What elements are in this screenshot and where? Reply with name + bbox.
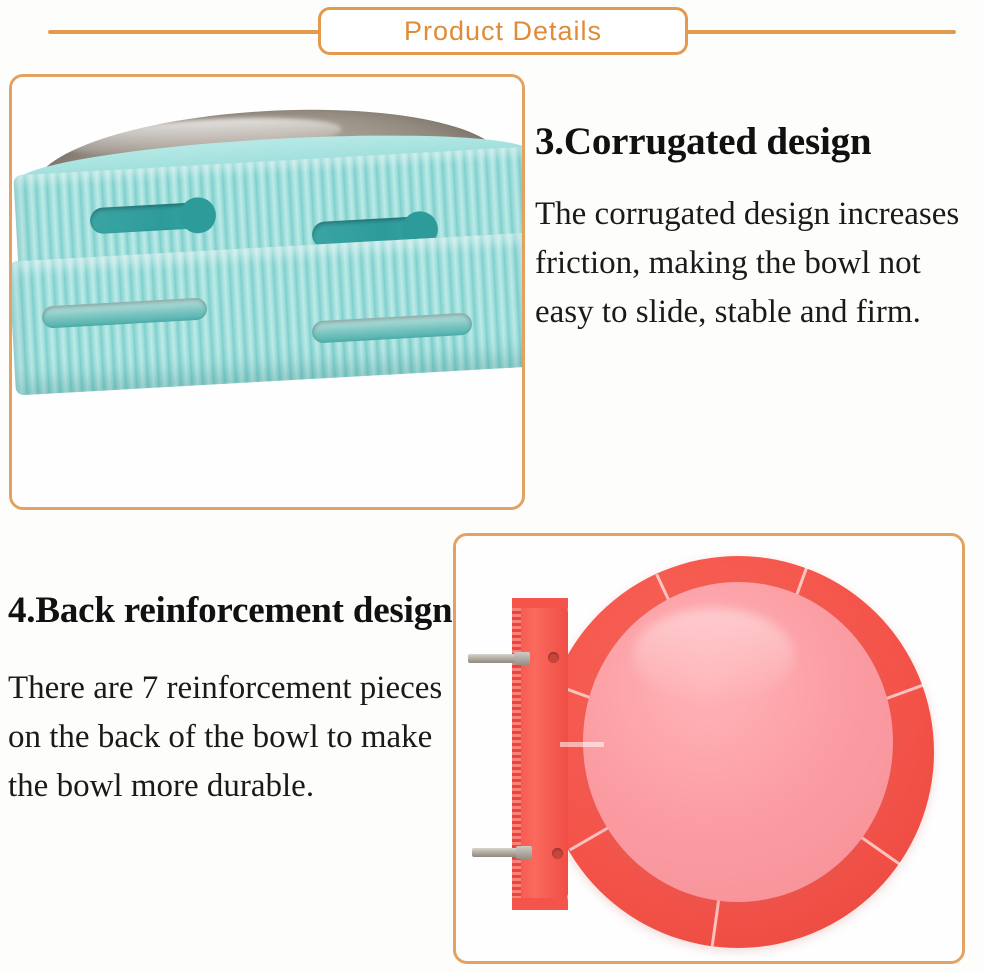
section-corrugated-design: 3.Corrugated design The corrugated desig…: [535, 120, 981, 337]
header-rule-left: [48, 30, 322, 34]
page-title: Product Details: [404, 16, 602, 47]
metal-bolt-top: [468, 654, 530, 663]
disc-gloss-highlight: [633, 608, 794, 704]
header-rule-right: [684, 30, 956, 34]
product-details-page: Product Details 3.Corrugated design: [0, 0, 984, 970]
bracket-cross-rib: [560, 742, 604, 747]
section-body: The corrugated design increases friction…: [535, 190, 981, 337]
pink-bowl-back-photo: [453, 533, 965, 964]
teal-bowl-scene: [12, 77, 522, 507]
page-header: Product Details: [0, 0, 984, 62]
metal-bolt-bottom: [472, 848, 532, 857]
pink-bowl-center-disc: [583, 582, 893, 902]
keyhole-slot-upper-left: [89, 202, 210, 235]
bolt-hole-top: [548, 652, 559, 663]
section-heading: 3.Corrugated design: [535, 120, 981, 164]
section-heading: 4.Back reinforcement design: [8, 592, 460, 630]
teal-corrugated-bowl-photo: [9, 74, 525, 510]
section-body: There are 7 reinforcement pieces on the …: [8, 664, 460, 811]
page-title-badge: Product Details: [318, 7, 688, 55]
bolt-hole-bottom: [552, 848, 563, 859]
teal-photo-stage: [12, 77, 522, 507]
pink-bowl-scene: [456, 536, 962, 961]
pink-photo-stage: [456, 536, 962, 961]
section-back-reinforcement-design: 4.Back reinforcement design There are 7 …: [8, 592, 460, 811]
